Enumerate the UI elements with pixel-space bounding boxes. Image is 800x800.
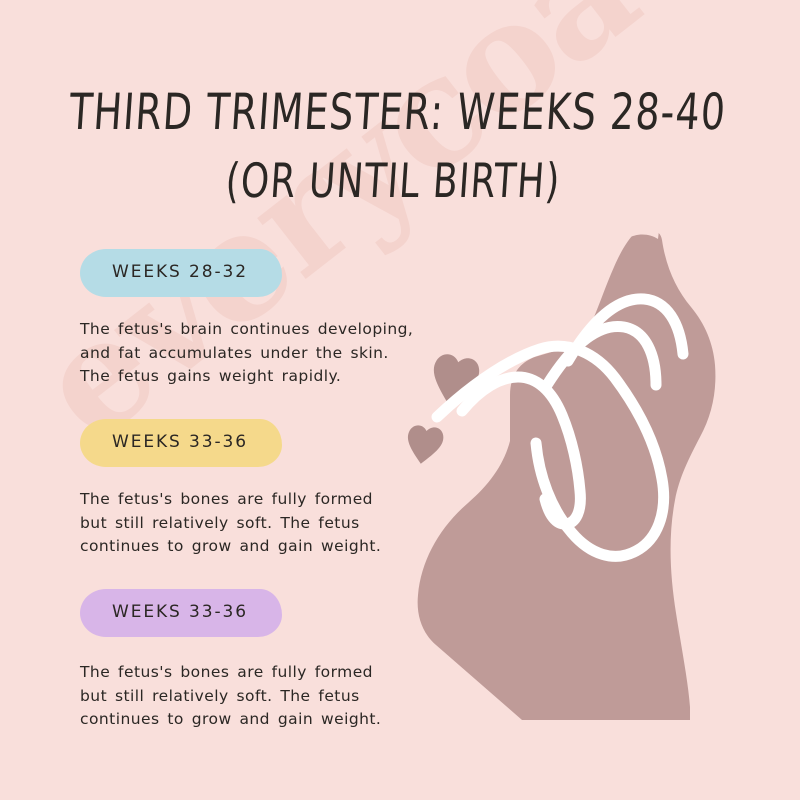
body-text-weeks-33-36-a: The fetus's bones are fully formed but s… — [80, 488, 430, 559]
title-line-2: (OR UNTIL BIRTH) — [3, 149, 783, 216]
body-text-weeks-28-32: The fetus's brain continues developing, … — [80, 318, 430, 389]
badge-weeks-33-36-a[interactable]: WEEKS 33-36 — [80, 419, 282, 467]
title-line-1: THIRD TRIMESTER: WEEKS 28-40 — [7, 78, 788, 149]
section-weeks-33-36-a: WEEKS 33-36 The fetus's bones are fully … — [80, 419, 500, 559]
badge-weeks-28-32[interactable]: WEEKS 28-32 — [80, 249, 282, 297]
section-weeks-28-32: WEEKS 28-32 The fetus's brain continues … — [80, 249, 500, 389]
page-title: THIRD TRIMESTER: WEEKS 28-40 (OR UNTIL B… — [3, 78, 788, 216]
badge-weeks-33-36-b[interactable]: WEEKS 33-36 — [80, 589, 282, 637]
body-text-weeks-33-36-b: The fetus's bones are fully formed but s… — [80, 661, 430, 732]
poster-canvas: everycoach THIRD TRIMESTER — [0, 0, 800, 800]
section-weeks-33-36-b: WEEKS 33-36 The fetus's bones are fully … — [80, 589, 500, 732]
